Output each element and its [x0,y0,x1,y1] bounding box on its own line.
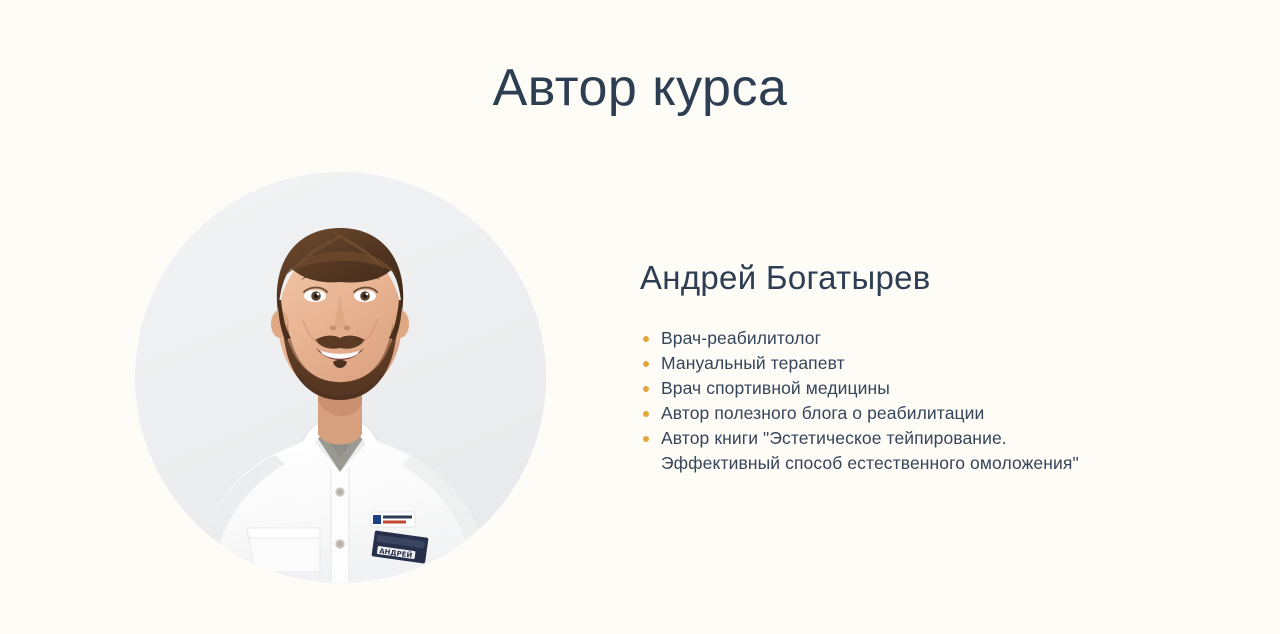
author-name: Андрей Богатырев [640,258,1240,298]
list-item: Врач спортивной медицины [640,376,1240,401]
page-title: Автор курса [0,57,1280,119]
credential-text: Мануальный терапевт [661,353,845,373]
list-item: Мануальный терапевт [640,351,1240,376]
credential-text: Автор полезного блога о реабилитации [661,403,984,423]
credential-text-continued: Эффективный способ естественного омоложе… [661,451,1240,476]
list-item: Автор полезного блога о реабилитации [640,401,1240,426]
credential-text: Врач спортивной медицины [661,378,890,398]
credential-text: Врач-реабилитолог [661,328,821,348]
author-info: Андрей Богатырев Врач-реабилитолог Мануа… [640,258,1240,476]
list-item: Врач-реабилитолог [640,326,1240,351]
author-section: Автор курса [0,0,1280,634]
author-photo: АНДРЕЙ [135,172,546,583]
list-item: Автор книги "Эстетическое тейпирование. … [640,426,1240,476]
coat-brand-patch [371,512,415,527]
credential-text: Автор книги "Эстетическое тейпирование. [661,428,1007,448]
author-credentials-list: Врач-реабилитолог Мануальный терапевт Вр… [640,326,1240,476]
author-portrait-illustration: АНДРЕЙ [135,172,546,583]
